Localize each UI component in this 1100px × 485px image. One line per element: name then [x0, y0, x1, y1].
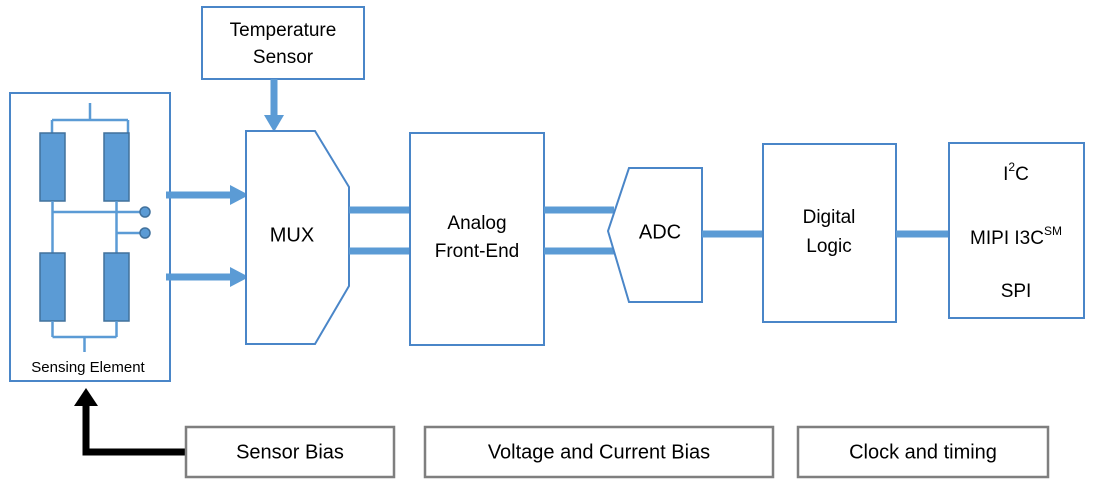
temperature-sensor-label-line2: Sensor	[253, 47, 314, 68]
resistor-top-left	[40, 133, 65, 201]
temperature-sensor-outline	[202, 7, 364, 79]
mux-label: MUX	[270, 224, 314, 246]
digital-logic-block[interactable]: Digital Logic	[763, 144, 896, 322]
mux-block[interactable]: MUX	[246, 131, 349, 344]
voltage-current-bias-label: Voltage and Current Bias	[488, 441, 710, 463]
bridge-terminal-negative	[140, 228, 150, 238]
sensing-element-label: Sensing Element	[31, 359, 145, 376]
voltage-current-bias-block[interactable]: Voltage and Current Bias	[425, 427, 773, 477]
interfaces-block[interactable]: I2C MIPI I3CSM SPI	[949, 143, 1084, 318]
clock-timing-label: Clock and timing	[849, 441, 997, 463]
arrow-sensor-bias-to-sensing-element	[74, 388, 186, 452]
arrow-sensing-element-to-mux-top	[166, 185, 249, 205]
sensor-bias-block[interactable]: Sensor Bias	[186, 427, 394, 477]
digital-logic-label-line1: Digital	[803, 207, 856, 228]
mipi-base: MIPI I3C	[970, 228, 1044, 249]
analog-front-end-label-line1: Analog	[447, 213, 506, 234]
temperature-sensor-label-line1: Temperature	[230, 20, 337, 41]
bus-mux-to-analog-front-end	[349, 210, 412, 251]
analog-front-end-block[interactable]: Analog Front-End	[410, 133, 544, 345]
interface-i2c-label: I2C	[1003, 160, 1029, 185]
sensing-element-block[interactable]: Sensing Element	[10, 93, 170, 381]
resistor-bottom-right	[104, 253, 129, 321]
digital-logic-outline	[763, 144, 896, 322]
sensor-bias-label: Sensor Bias	[236, 441, 344, 463]
bridge-terminal-positive	[140, 207, 150, 217]
analog-front-end-outline	[410, 133, 544, 345]
bus-analog-front-end-to-adc	[544, 210, 614, 251]
block-diagram-canvas: Sensing Element Temperature Sensor MUX	[0, 0, 1100, 485]
interface-spi-label: SPI	[1001, 281, 1032, 302]
clock-timing-block[interactable]: Clock and timing	[798, 427, 1048, 477]
resistor-bottom-left	[40, 253, 65, 321]
resistor-top-right	[104, 133, 129, 201]
block-diagram-svg: Sensing Element Temperature Sensor MUX	[0, 0, 1100, 485]
mipi-superscript: SM	[1044, 224, 1062, 238]
digital-logic-label-line2: Logic	[806, 236, 851, 257]
analog-front-end-label-line2: Front-End	[435, 241, 519, 262]
arrow-temp-sensor-to-mux	[264, 79, 284, 132]
temperature-sensor-block[interactable]: Temperature Sensor	[202, 7, 364, 79]
arrow-sensing-element-to-mux-bottom	[166, 267, 249, 287]
adc-label: ADC	[639, 221, 681, 243]
i2c-tail: C	[1015, 164, 1029, 185]
adc-block[interactable]: ADC	[608, 168, 702, 302]
